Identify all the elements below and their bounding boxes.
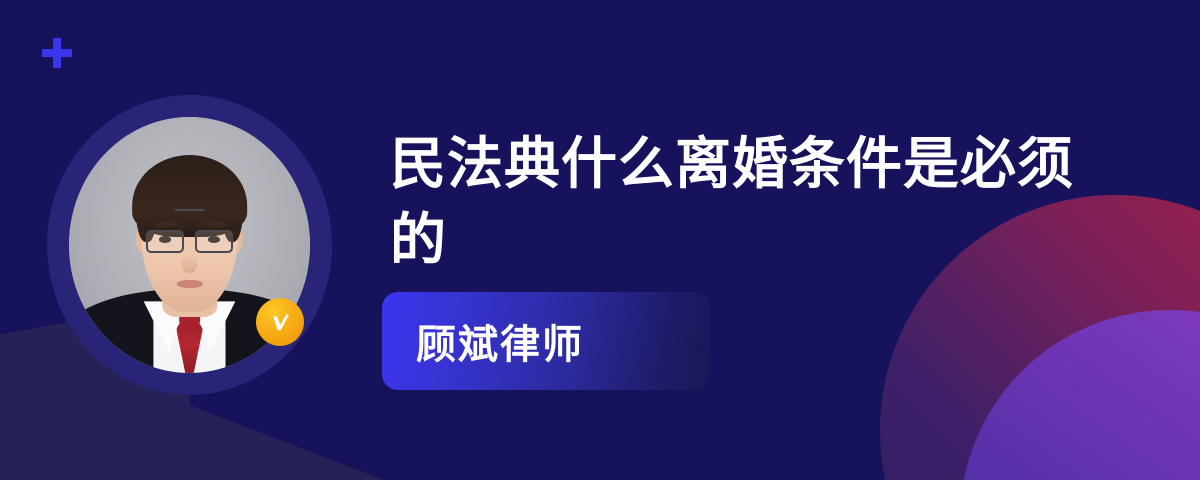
page-title: 民法典什么离婚条件是必须的 [390,126,1080,278]
author-button[interactable]: 顾斌律师 [382,292,710,390]
avatar[interactable] [47,95,332,395]
plus-icon [42,38,72,68]
gradient-circle-decoration [960,310,1200,480]
diagonal-polygon-mid-decoration [150,390,410,480]
verified-badge-icon [256,298,304,346]
lawyer-article-banner: 民法典什么离婚条件是必须的 顾斌律师 [0,0,1200,480]
